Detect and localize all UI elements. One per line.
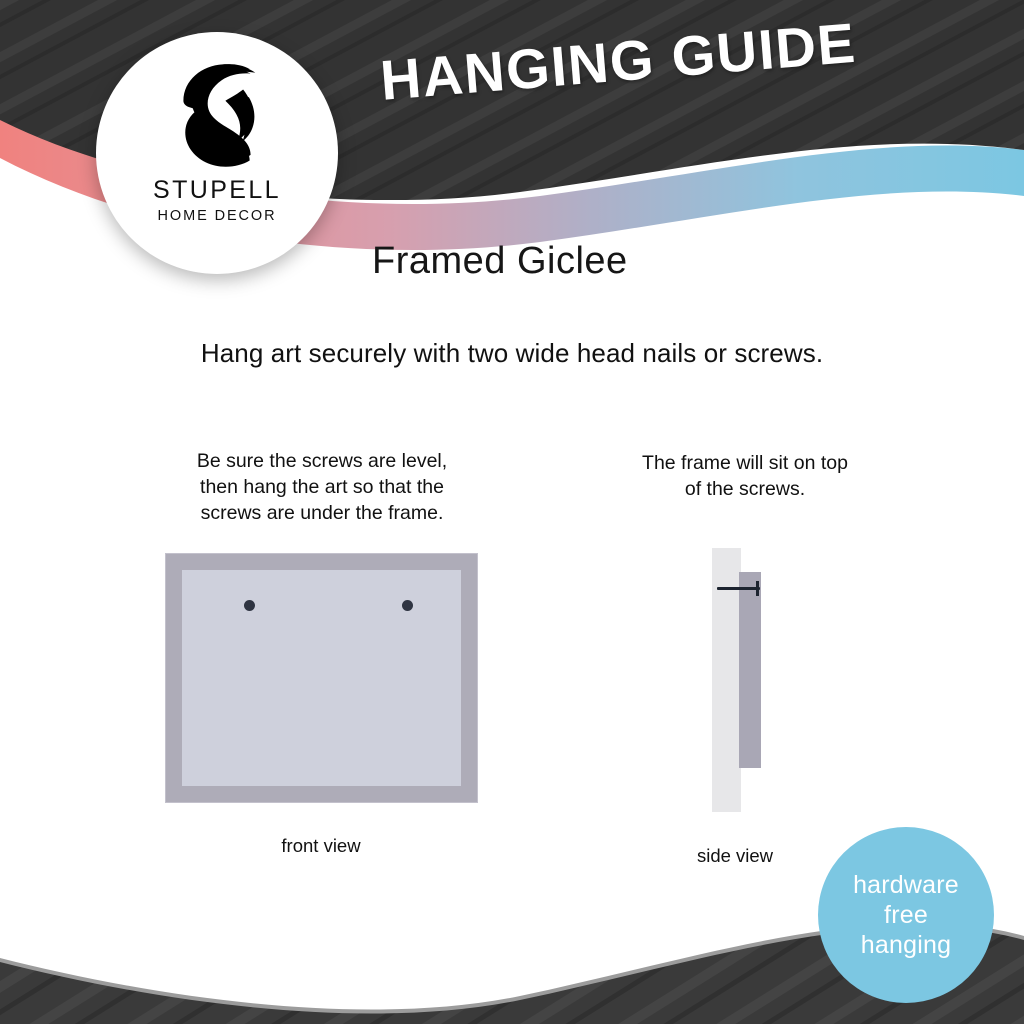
- side-view-label: side view: [640, 845, 830, 867]
- badge-line-1: hardware: [853, 870, 959, 900]
- logo-brand-name: STUPELL: [153, 176, 281, 205]
- nail-side-icon: [717, 587, 760, 590]
- front-view-diagram: [165, 553, 478, 803]
- side-view-frame: [739, 572, 761, 768]
- front-view-caption-line-2: then hang the art so that the: [172, 474, 472, 500]
- front-view-caption-line-1: Be sure the screws are level,: [172, 448, 472, 474]
- side-view-caption-line-1: The frame will sit on top: [600, 450, 890, 476]
- side-view-caption: The frame will sit on top of the screws.: [600, 450, 890, 502]
- badge-line-3: hanging: [861, 930, 951, 960]
- front-view-art-panel: [182, 570, 461, 786]
- front-view-label: front view: [171, 835, 471, 857]
- stupell-s-swoosh-icon: [161, 52, 273, 170]
- main-instruction: Hang art securely with two wide head nai…: [0, 338, 1024, 369]
- brand-logo-badge: STUPELL HOME DECOR: [96, 32, 338, 274]
- side-view-diagram: [700, 540, 780, 820]
- hardware-free-hanging-badge: hardware free hanging: [818, 827, 994, 1003]
- nail-head-icon: [756, 581, 759, 596]
- badge-line-2: free: [884, 900, 928, 930]
- front-view-caption-line-3: screws are under the frame.: [172, 500, 472, 526]
- logo-brand-tagline: HOME DECOR: [158, 208, 277, 224]
- screw-dot-left: [244, 600, 255, 611]
- product-name: Framed Giclee: [372, 240, 628, 283]
- side-view-caption-line-2: of the screws.: [600, 476, 890, 502]
- page-title: HANGING GUIDE: [378, 10, 859, 113]
- front-view-caption: Be sure the screws are level, then hang …: [172, 448, 472, 526]
- screw-dot-right: [402, 600, 413, 611]
